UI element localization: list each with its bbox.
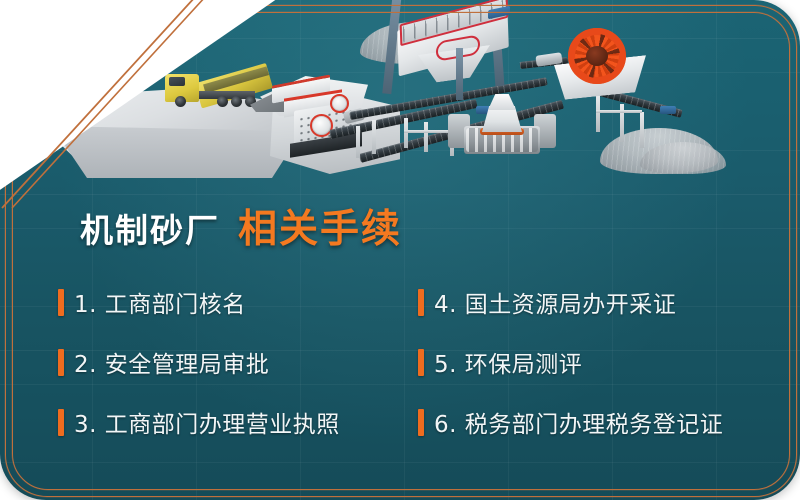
list-item-label: 3. 工商部门办理营业执照: [74, 405, 340, 439]
bullet-marker-icon: [58, 349, 64, 376]
list-item: 2. 安全管理局审批: [58, 332, 418, 392]
list-item-label: 5. 环保局测评: [434, 345, 582, 379]
bullet-marker-icon: [418, 409, 424, 436]
list-item: 4. 国土资源局办开采证: [418, 272, 758, 332]
list-item: 1. 工商部门核名: [58, 272, 418, 332]
list-item-label: 4. 国土资源局办开采证: [434, 285, 676, 319]
list-item: 6. 税务部门办理税务登记证: [418, 392, 758, 452]
page-title: 机制砂厂 相关手续: [80, 198, 402, 254]
text-content: 机制砂厂 相关手续 1. 工商部门核名 4. 国土资源局办开采证 2. 安全管理…: [0, 0, 800, 500]
bullet-marker-icon: [58, 289, 64, 316]
bullet-marker-icon: [418, 289, 424, 316]
bullet-marker-icon: [58, 409, 64, 436]
title-highlight: 相关手续: [238, 198, 402, 254]
list-item-label: 1. 工商部门核名: [74, 285, 246, 319]
title-subject: 机制砂厂: [80, 204, 220, 252]
list-item: 5. 环保局测评: [418, 332, 758, 392]
list-item-label: 6. 税务部门办理税务登记证: [434, 405, 723, 439]
procedure-list: 1. 工商部门核名 4. 国土资源局办开采证 2. 安全管理局审批 5. 环保局…: [58, 272, 758, 452]
infographic-stage: 机制砂厂 相关手续 1. 工商部门核名 4. 国土资源局办开采证 2. 安全管理…: [0, 0, 800, 500]
list-item-label: 2. 安全管理局审批: [74, 345, 269, 379]
bullet-marker-icon: [418, 349, 424, 376]
list-item: 3. 工商部门办理营业执照: [58, 392, 418, 452]
